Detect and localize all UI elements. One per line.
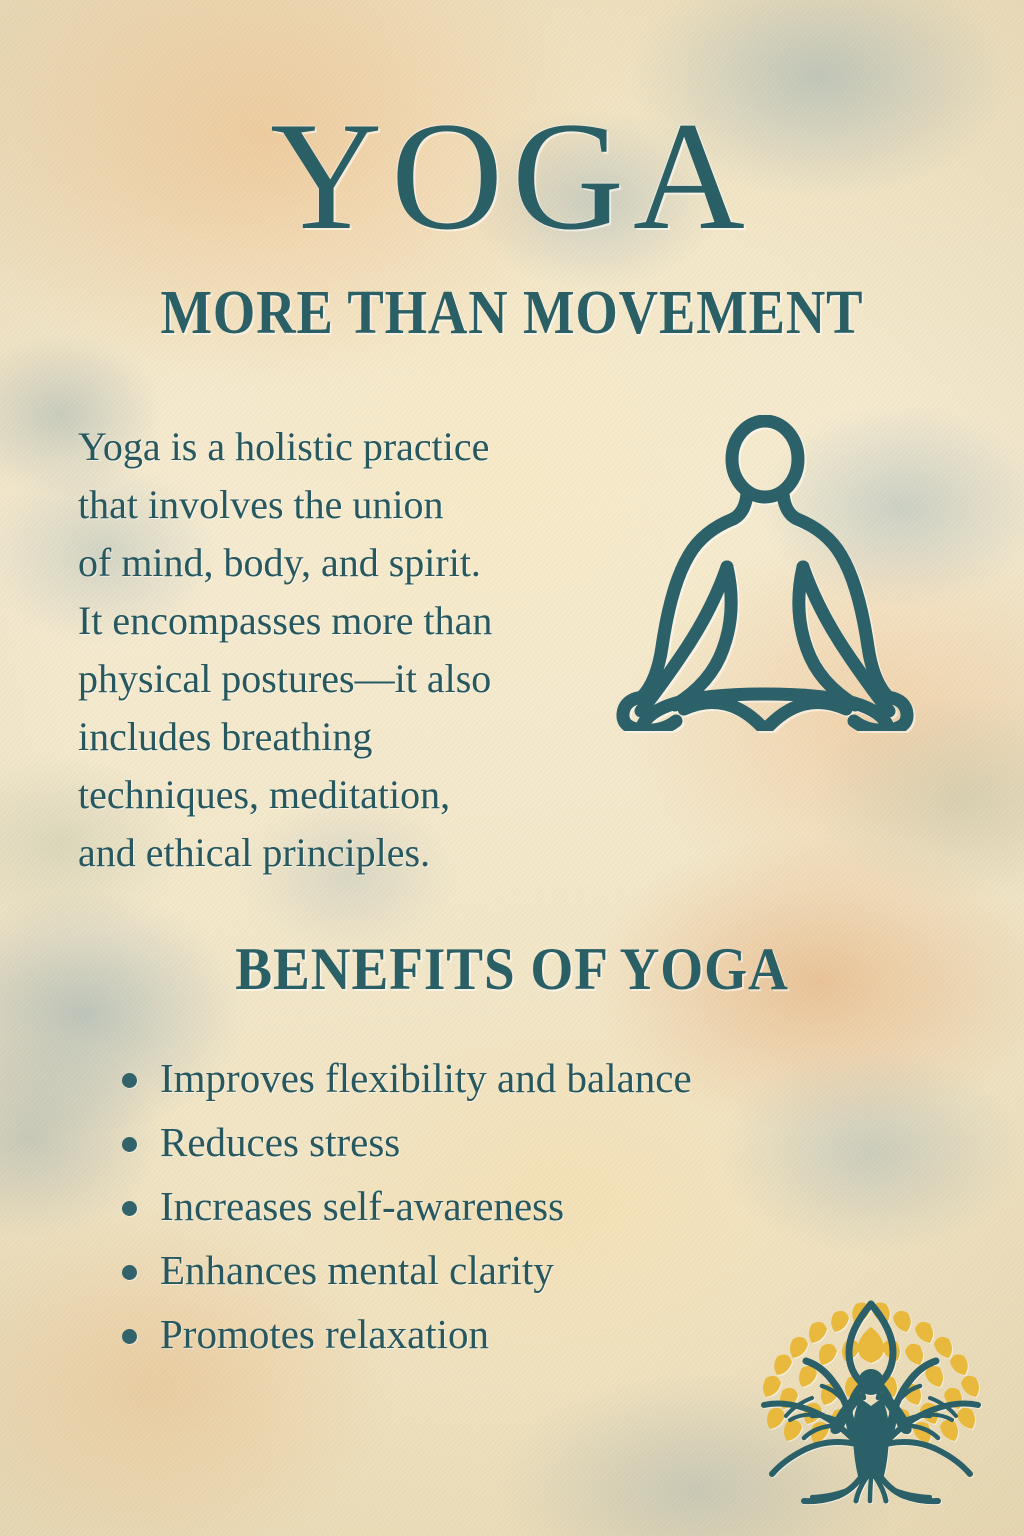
intro-line: of mind, body, and spirit.: [78, 534, 608, 592]
list-item: Enhances mental clarity: [110, 1238, 910, 1302]
tree-of-life-figure-icon: [752, 1298, 990, 1506]
intro-paragraph: Yoga is a holistic practice that involve…: [78, 418, 608, 882]
lotus-head: [732, 421, 798, 497]
lotus-left-thigh: [641, 567, 727, 711]
intro-line: includes breathing: [78, 708, 608, 766]
list-item: Improves flexibility and balance: [110, 1046, 910, 1110]
list-item: Reduces stress: [110, 1110, 910, 1174]
intro-line: and ethical principles.: [78, 824, 608, 882]
intro-line: It encompasses more than: [78, 592, 608, 650]
tree-roots: [804, 1476, 938, 1501]
lotus-right-thigh: [803, 567, 889, 711]
lotus-figure-svg: [612, 415, 918, 731]
intro-line: that involves the union: [78, 476, 608, 534]
list-item: Increases self-awareness: [110, 1174, 910, 1238]
meditating-lotus-figure-icon: [612, 415, 918, 731]
tree-of-life-svg: [752, 1298, 990, 1506]
lotus-crossed-feet: [684, 702, 846, 730]
intro-line: Yoga is a holistic practice: [78, 418, 608, 476]
intro-line: techniques, meditation,: [78, 766, 608, 824]
benefits-heading: BENEFITS OF YOGA: [41, 935, 983, 1004]
yoga-poster: YOGA MORE THAN MOVEMENT Yoga is a holist…: [0, 0, 1024, 1536]
tree-human-figure: [830, 1369, 911, 1479]
poster-title: YOGA: [0, 102, 1024, 251]
poster-subtitle: MORE THAN MOVEMENT: [61, 282, 962, 344]
intro-line: physical postures—it also: [78, 650, 608, 708]
